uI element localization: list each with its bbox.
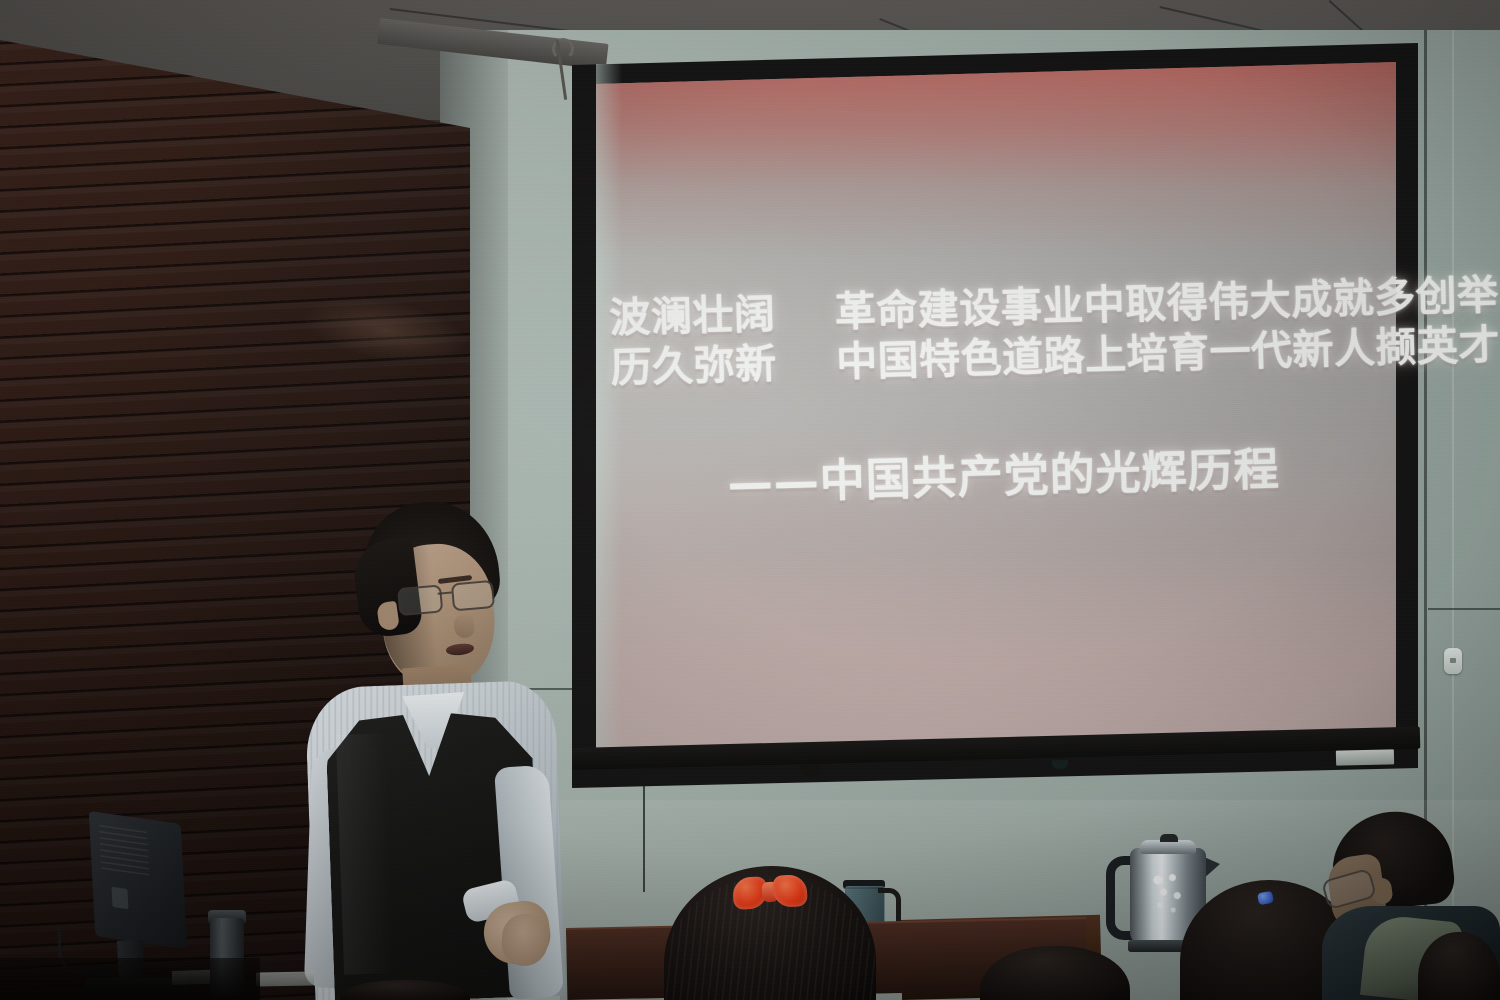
presenter-vest-highlight	[336, 733, 394, 975]
monitor-vents	[99, 822, 149, 875]
photo-scene: 波澜壮阔 革命建设事业中取得伟大成就多创举 历久弥新 中国特色道路上培育一代新人…	[0, 0, 1500, 1000]
kettle-knob	[1160, 834, 1178, 842]
projection-screen-surface	[596, 62, 1396, 762]
wall-seam	[1428, 608, 1500, 610]
glasses-bridge	[438, 591, 452, 594]
bow-right-loop	[772, 874, 808, 908]
screen-brand-label	[1336, 749, 1394, 765]
screen-pull-cord	[643, 784, 645, 892]
foreground-shadow	[0, 958, 260, 1000]
glasses-left-lens	[397, 584, 443, 616]
monitor-logo	[111, 887, 128, 909]
kettle-lid	[1140, 840, 1196, 854]
paper-sheet	[256, 971, 314, 986]
screen-unused-margin	[596, 64, 622, 760]
kettle-reflections	[1150, 868, 1190, 928]
red-bow-hair-clip-icon	[732, 874, 808, 910]
presenter	[286, 498, 586, 1000]
glasses-right-lens	[451, 580, 495, 612]
wall-sensor-icon	[1444, 648, 1462, 674]
